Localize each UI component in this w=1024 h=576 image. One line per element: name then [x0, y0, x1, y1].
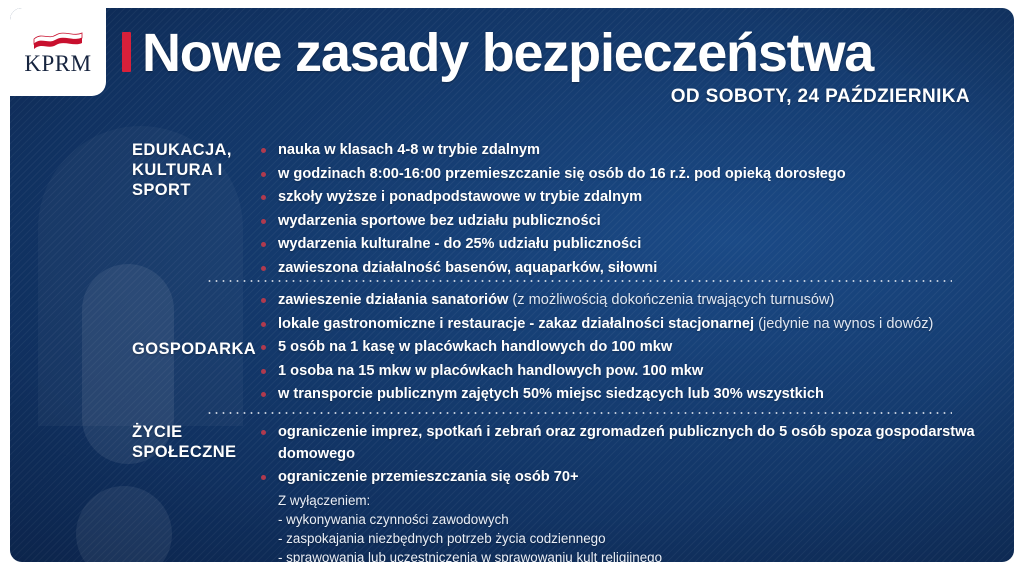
list-item-text: wydarzenia kulturalne - do 25% udziału p… — [278, 236, 641, 252]
section-label-line-1: ŻYCIE — [132, 422, 260, 442]
section-label-edukacja: EDUKACJA, KULTURA I SPORT — [10, 140, 260, 282]
list-item: zawieszenie działania sanatoriów (z możl… — [260, 290, 990, 312]
list-item: wydarzenia sportowe bez udziału publiczn… — [260, 211, 990, 233]
section-label-line-2: KULTURA I SPORT — [132, 160, 260, 200]
list-item: ograniczenie imprez, spotkań i zebrań or… — [260, 422, 990, 465]
section-label-zycie-spoleczne: ŻYCIE SPOŁECZNE — [10, 422, 260, 562]
poster-card: KPRM Nowe zasady bezpieczeństwa OD SOBOT… — [10, 8, 1014, 562]
section-list-gospodarka: zawieszenie działania sanatoriów (z możl… — [260, 290, 1014, 408]
list-item-text: ograniczenie imprez, spotkań i zebrań or… — [278, 424, 975, 462]
list-item-text: szkoły wyższe i ponadpodstawowe w trybie… — [278, 189, 642, 205]
kprm-logo: KPRM — [10, 8, 106, 96]
section-label-line-1: GOSPODARKA — [132, 339, 260, 359]
list-item: nauka w klasach 4-8 w trybie zdalnym — [260, 140, 990, 162]
list-item-note: (jedynie na wynos i dowóz) — [758, 316, 933, 332]
section-label-line-2: SPOŁECZNE — [132, 442, 260, 462]
infographic-root: KPRM Nowe zasady bezpieczeństwa OD SOBOT… — [0, 0, 1024, 576]
list-item: 5 osób na 1 kasę w placówkach handlowych… — [260, 337, 990, 359]
list-item-text: lokale gastronomiczne i restauracje - za… — [278, 316, 754, 332]
list-item-text: nauka w klasach 4-8 w trybie zdalnym — [278, 142, 540, 158]
section-zycie-spoleczne: ŻYCIE SPOŁECZNE ograniczenie imprez, spo… — [10, 422, 1014, 562]
logo-text: KPRM — [24, 52, 91, 75]
subnote-item: - sprawowania lub uczestniczenia w spraw… — [260, 548, 990, 562]
subnote-heading: Z wyłączeniem: — [260, 491, 990, 510]
list-item: lokale gastronomiczne i restauracje - za… — [260, 314, 990, 336]
subnote-item: - zaspokajania niezbędnych potrzeb życia… — [260, 529, 990, 548]
list-item: zawieszona działalność basenów, aquapark… — [260, 258, 990, 280]
list-item: w transporcie publicznym zajętych 50% mi… — [260, 384, 990, 406]
list-item-text: zawieszenie działania sanatoriów — [278, 292, 508, 308]
section-edukacja: EDUKACJA, KULTURA I SPORT nauka w klasac… — [10, 140, 1014, 282]
title-row: Nowe zasady bezpieczeństwa — [122, 26, 988, 81]
sections-container: EDUKACJA, KULTURA I SPORT nauka w klasac… — [10, 140, 1014, 562]
list-item: ograniczenie przemieszczania się osób 70… — [260, 467, 990, 489]
section-gospodarka: GOSPODARKA zawieszenie działania sanator… — [10, 290, 1014, 408]
list-item-text: 5 osób na 1 kasę w placówkach handlowych… — [278, 339, 672, 355]
page-title: Nowe zasady bezpieczeństwa — [142, 26, 873, 81]
list-item-text: zawieszona działalność basenów, aquapark… — [278, 260, 657, 276]
list-item-note: (z możliwością dokończenia trwających tu… — [512, 292, 834, 308]
list-item: w godzinach 8:00-16:00 przemieszczanie s… — [260, 164, 990, 186]
polish-flag-wave-icon — [32, 30, 84, 50]
list-item: 1 osoba na 15 mkw w placówkach handlowyc… — [260, 361, 990, 383]
title-accent-bar — [122, 32, 131, 72]
section-label-line-1: EDUKACJA, — [132, 140, 260, 160]
list-item-text: w transporcie publicznym zajętych 50% mi… — [278, 386, 824, 402]
list-item-text: ograniczenie przemieszczania się osób 70… — [278, 469, 579, 485]
section-label-gospodarka: GOSPODARKA — [10, 339, 260, 359]
section-list-zycie-spoleczne: ograniczenie imprez, spotkań i zebrań or… — [260, 422, 1014, 562]
list-item-text: 1 osoba na 15 mkw w placówkach handlowyc… — [278, 363, 703, 379]
subnote-item: - wykonywania czynności zawodowych — [260, 510, 990, 529]
list-item-text: w godzinach 8:00-16:00 przemieszczanie s… — [278, 166, 846, 182]
header: Nowe zasady bezpieczeństwa OD SOBOTY, 24… — [122, 26, 988, 108]
list-item: szkoły wyższe i ponadpodstawowe w trybie… — [260, 187, 990, 209]
page-subtitle: OD SOBOTY, 24 PAŹDZIERNIKA — [122, 86, 988, 108]
section-list-edukacja: nauka w klasach 4-8 w trybie zdalnym w g… — [260, 140, 1014, 282]
list-item: wydarzenia kulturalne - do 25% udziału p… — [260, 234, 990, 256]
list-item-text: wydarzenia sportowe bez udziału publiczn… — [278, 213, 601, 229]
